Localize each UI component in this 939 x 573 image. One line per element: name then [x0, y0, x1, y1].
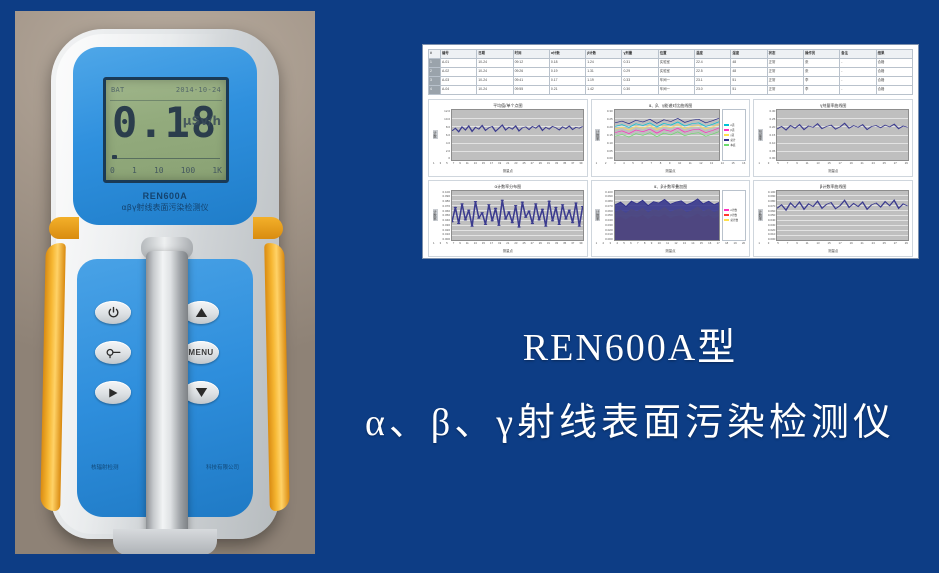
table-cell: 0.29: [622, 68, 658, 77]
chart-panel[interactable]: α、β、γ能谱对比曲线图计数率0.300.250.200.150.100.050…: [591, 99, 751, 177]
table-cell: 李: [803, 86, 839, 95]
chart-panel[interactable]: β计数率曲线图计数率0.1000.0900.0800.0700.0600.050…: [753, 180, 913, 258]
table-cell: 0.31: [622, 59, 658, 68]
chart-x-ticks: 13579111315171921232527293133353739: [432, 241, 584, 248]
legend-item: 总计: [724, 138, 744, 142]
chart-x-axis-label: 测量点: [757, 168, 909, 174]
table-cell: 车间一: [658, 77, 694, 86]
table-cell: -: [840, 77, 876, 86]
table-row[interactable]: 2A-0210-2409:260.191.310.29实验室22.548正常张-…: [429, 68, 913, 77]
table-cell: 09:12: [513, 59, 549, 68]
power-icon: [107, 306, 120, 319]
table-cell: A-04: [441, 86, 477, 95]
chart-x-axis-label: 测量点: [432, 168, 584, 174]
table-cell: 正常: [767, 68, 803, 77]
charts-grid: 平均值/单个点图计数12.010.08.06.04.02.00135791113…: [428, 99, 913, 257]
table-cell: 23.0: [695, 86, 731, 95]
table-cell: 22.5: [695, 68, 731, 77]
chart-legend: α道β道γ道总计本底: [722, 109, 746, 161]
chart-panel[interactable]: α计数率分布图计数率0.1000.0900.0800.0700.0600.050…: [428, 180, 588, 258]
chart-panel[interactable]: γ剂量率曲线图剂量率0.300.250.200.150.100.050.0013…: [753, 99, 913, 177]
chart-title: 平均值/单个点图: [432, 102, 584, 109]
table-header-cell: β计数: [586, 50, 622, 59]
chart-legend: α计数β计数总计数: [722, 190, 746, 242]
chart-x-ticks: 1357911131517192123252729: [757, 161, 909, 168]
table-cell: 正常: [767, 86, 803, 95]
chart-title: α计数率分布图: [432, 183, 584, 190]
chart-x-ticks: 1234567891011121314151617181920: [595, 241, 747, 248]
table-cell: 车间一: [658, 86, 694, 95]
device-grip-tab-left: [49, 217, 79, 239]
legend-item: 本底: [724, 143, 744, 147]
table-cell: 10-24: [477, 59, 513, 68]
table-header-cell: 湿度: [731, 50, 767, 59]
device-grip-tab-right: [253, 217, 283, 239]
chart-title: α、β、γ能谱对比曲线图: [595, 102, 747, 109]
lcd-scale-tick: 1K: [212, 166, 222, 175]
chart-title: α、β计数率叠加图: [595, 183, 747, 190]
device-menu-button[interactable]: MENU: [183, 341, 219, 364]
table-cell: 48: [731, 68, 767, 77]
chart-x-axis-label: 测量点: [595, 248, 747, 254]
table-header-cell: 操作员: [803, 50, 839, 59]
chart-panel[interactable]: 平均值/单个点图计数12.010.08.06.04.02.00135791113…: [428, 99, 588, 177]
lcd-scale-tick: 0: [110, 166, 115, 175]
slide-canvas: BAT 2014-10-24 0.18 μSv/h 0 1 10 100 1K …: [0, 0, 939, 573]
table-header-cell: 位置: [658, 50, 694, 59]
table-header-cell: α计数: [549, 50, 585, 59]
table-cell: 0.21: [549, 86, 585, 95]
table-header-cell: 温度: [695, 50, 731, 59]
table-cell: 10-24: [477, 68, 513, 77]
chart-x-axis-label: 测量点: [757, 248, 909, 254]
chart-y-ticks: 12.010.08.06.04.02.00: [438, 109, 451, 161]
table-cell: 10-24: [477, 86, 513, 95]
device-down-button[interactable]: [183, 381, 219, 404]
lcd-measurement-unit: μSv/h: [183, 114, 221, 128]
table-cell: 正常: [767, 77, 803, 86]
table-row[interactable]: 4A-0410-2409:550.211.420.30车间一23.051正常李-…: [429, 86, 913, 95]
table-cell: 李: [803, 77, 839, 86]
chart-plot-area: [614, 190, 721, 242]
table-cell: 2: [429, 68, 441, 77]
legend-item: β计数: [724, 213, 744, 217]
table-row[interactable]: 3A-0310-2409:410.171.190.33车间一23.151正常李-…: [429, 77, 913, 86]
lcd-battery-indicator: BAT: [111, 86, 125, 94]
chart-x-ticks: 1357911131517192123252729: [757, 241, 909, 248]
page-subtitle: α、β、γ射线表面污染检测仪: [330, 391, 930, 446]
lcd-scale-tick: 100: [181, 166, 195, 175]
table-cell: 22.4: [695, 59, 731, 68]
page-title: REN600A型: [330, 316, 930, 371]
table-cell: 4: [429, 86, 441, 95]
device-branding: REN600A αβγ射线表面污染检测仪: [73, 191, 257, 213]
device-description-label: αβγ射线表面污染检测仪: [73, 202, 257, 213]
table-cell: 0.30: [622, 86, 658, 95]
device-footer-right: 科技有限公司: [206, 463, 239, 471]
legend-item: γ道: [724, 133, 744, 137]
table-cell: 51: [731, 77, 767, 86]
table-row[interactable]: 1A-0110-2409:120.181.240.31实验室22.448正常张-…: [429, 59, 913, 68]
data-table: #编号日期时间α计数β计数γ剂量位置温度湿度状态操作员备注结果1A-0110-2…: [428, 49, 913, 95]
table-cell: 合格: [876, 59, 912, 68]
table-header-cell: 编号: [441, 50, 477, 59]
chart-plot-area: [776, 190, 909, 242]
table-cell: 正常: [767, 59, 803, 68]
lcd-scale-row: 0 1 10 100 1K: [110, 163, 222, 177]
table-cell: 23.1: [695, 77, 731, 86]
lcd-scale-tick: 1: [132, 166, 137, 175]
device-light-button[interactable]: [95, 341, 131, 364]
software-screenshot: #编号日期时间α计数β计数γ剂量位置温度湿度状态操作员备注结果1A-0110-2…: [422, 44, 919, 259]
table-header-cell: γ剂量: [622, 50, 658, 59]
table-cell: 09:41: [513, 77, 549, 86]
table-cell: 1.42: [586, 86, 622, 95]
table-cell: A-03: [441, 77, 477, 86]
table-cell: A-02: [441, 68, 477, 77]
legend-item: β道: [724, 128, 744, 132]
device-up-button[interactable]: [183, 301, 219, 324]
chart-y-ticks: 0.300.250.200.150.100.050.00: [601, 109, 614, 161]
table-cell: 48: [731, 59, 767, 68]
triangle-up-icon: [195, 307, 208, 318]
lcd-scale-tick: 10: [154, 166, 164, 175]
table-cell: 1.19: [586, 77, 622, 86]
table-cell: 1.24: [586, 59, 622, 68]
table-cell: 09:55: [513, 86, 549, 95]
table-header-cell: 备注: [840, 50, 876, 59]
chart-panel[interactable]: α、β计数率叠加图计数率0.1000.0900.0800.0700.0600.0…: [591, 180, 751, 258]
lcd-status-row: BAT 2014-10-24: [106, 82, 226, 98]
table-cell: -: [840, 59, 876, 68]
chart-x-axis-label: 测量点: [432, 248, 584, 254]
table-cell: 实验室: [658, 68, 694, 77]
legend-item: α计数: [724, 208, 744, 212]
table-cell: 51: [731, 86, 767, 95]
table-header-cell: 结果: [876, 50, 912, 59]
chart-title: β计数率曲线图: [757, 183, 909, 190]
table-cell: -: [840, 86, 876, 95]
table-cell: 3: [429, 77, 441, 86]
table-cell: 0.33: [622, 77, 658, 86]
device-handle-strap: [146, 251, 188, 551]
device-bottom-cap: [113, 529, 217, 554]
device-play-button[interactable]: [95, 381, 131, 404]
table-cell: 0.18: [549, 59, 585, 68]
table-header-row: #编号日期时间α计数β计数γ剂量位置温度湿度状态操作员备注结果: [429, 50, 913, 59]
play-icon: [107, 387, 119, 399]
chart-plot-area: [451, 109, 584, 161]
table-header-cell: 时间: [513, 50, 549, 59]
table-cell: -: [840, 68, 876, 77]
table-cell: 合格: [876, 68, 912, 77]
table-cell: 0.17: [549, 77, 585, 86]
product-title-block: REN600A型 α、β、γ射线表面污染检测仪: [330, 316, 930, 446]
device-model-label: REN600A: [73, 191, 257, 201]
table-cell: 张: [803, 68, 839, 77]
chart-y-ticks: 0.1000.0900.0800.0700.0600.0500.0400.030…: [438, 190, 451, 242]
table-cell: 实验室: [658, 59, 694, 68]
table-cell: 张: [803, 59, 839, 68]
chart-x-axis-label: 测量点: [595, 168, 747, 174]
triangle-down-icon: [195, 387, 208, 398]
chart-x-ticks: 13579111315171921232527293133353739: [432, 161, 584, 168]
chart-title: γ剂量率曲线图: [757, 102, 909, 109]
chart-plot-area: [776, 109, 909, 161]
table-cell: 10-24: [477, 77, 513, 86]
chart-y-ticks: 0.1000.0900.0800.0700.0600.0500.0400.030…: [763, 190, 776, 242]
table-header-cell: 状态: [767, 50, 803, 59]
chart-x-ticks: 12345678910111213141516: [595, 161, 747, 168]
chart-plot-area: [451, 190, 584, 242]
table-header-cell: #: [429, 50, 441, 59]
table-cell: 0.19: [549, 68, 585, 77]
device-footer-left: 核辐射检测: [91, 463, 119, 471]
device-grip-right: [264, 243, 290, 511]
flashlight-icon: [106, 347, 121, 359]
legend-item: α道: [724, 123, 744, 127]
table-cell: 合格: [876, 86, 912, 95]
chart-y-ticks: 0.1000.0900.0800.0700.0600.0500.0400.030…: [601, 190, 614, 242]
device-power-button[interactable]: [95, 301, 131, 324]
legend-item: 总计数: [724, 218, 744, 222]
product-photo: BAT 2014-10-24 0.18 μSv/h 0 1 10 100 1K …: [15, 11, 315, 554]
table-cell: 1: [429, 59, 441, 68]
table-cell: A-01: [441, 59, 477, 68]
device-lcd-screen: BAT 2014-10-24 0.18 μSv/h 0 1 10 100 1K: [103, 77, 229, 183]
lcd-bargraph: [112, 155, 220, 159]
menu-text-icon: MENU: [188, 348, 213, 357]
chart-plot-area: [614, 109, 721, 161]
table-cell: 合格: [876, 77, 912, 86]
table-header-cell: 日期: [477, 50, 513, 59]
table-cell: 09:26: [513, 68, 549, 77]
lcd-date-readout: 2014-10-24: [176, 86, 221, 94]
chart-y-ticks: 0.300.250.200.150.100.050.00: [763, 109, 776, 161]
table-cell: 1.31: [586, 68, 622, 77]
